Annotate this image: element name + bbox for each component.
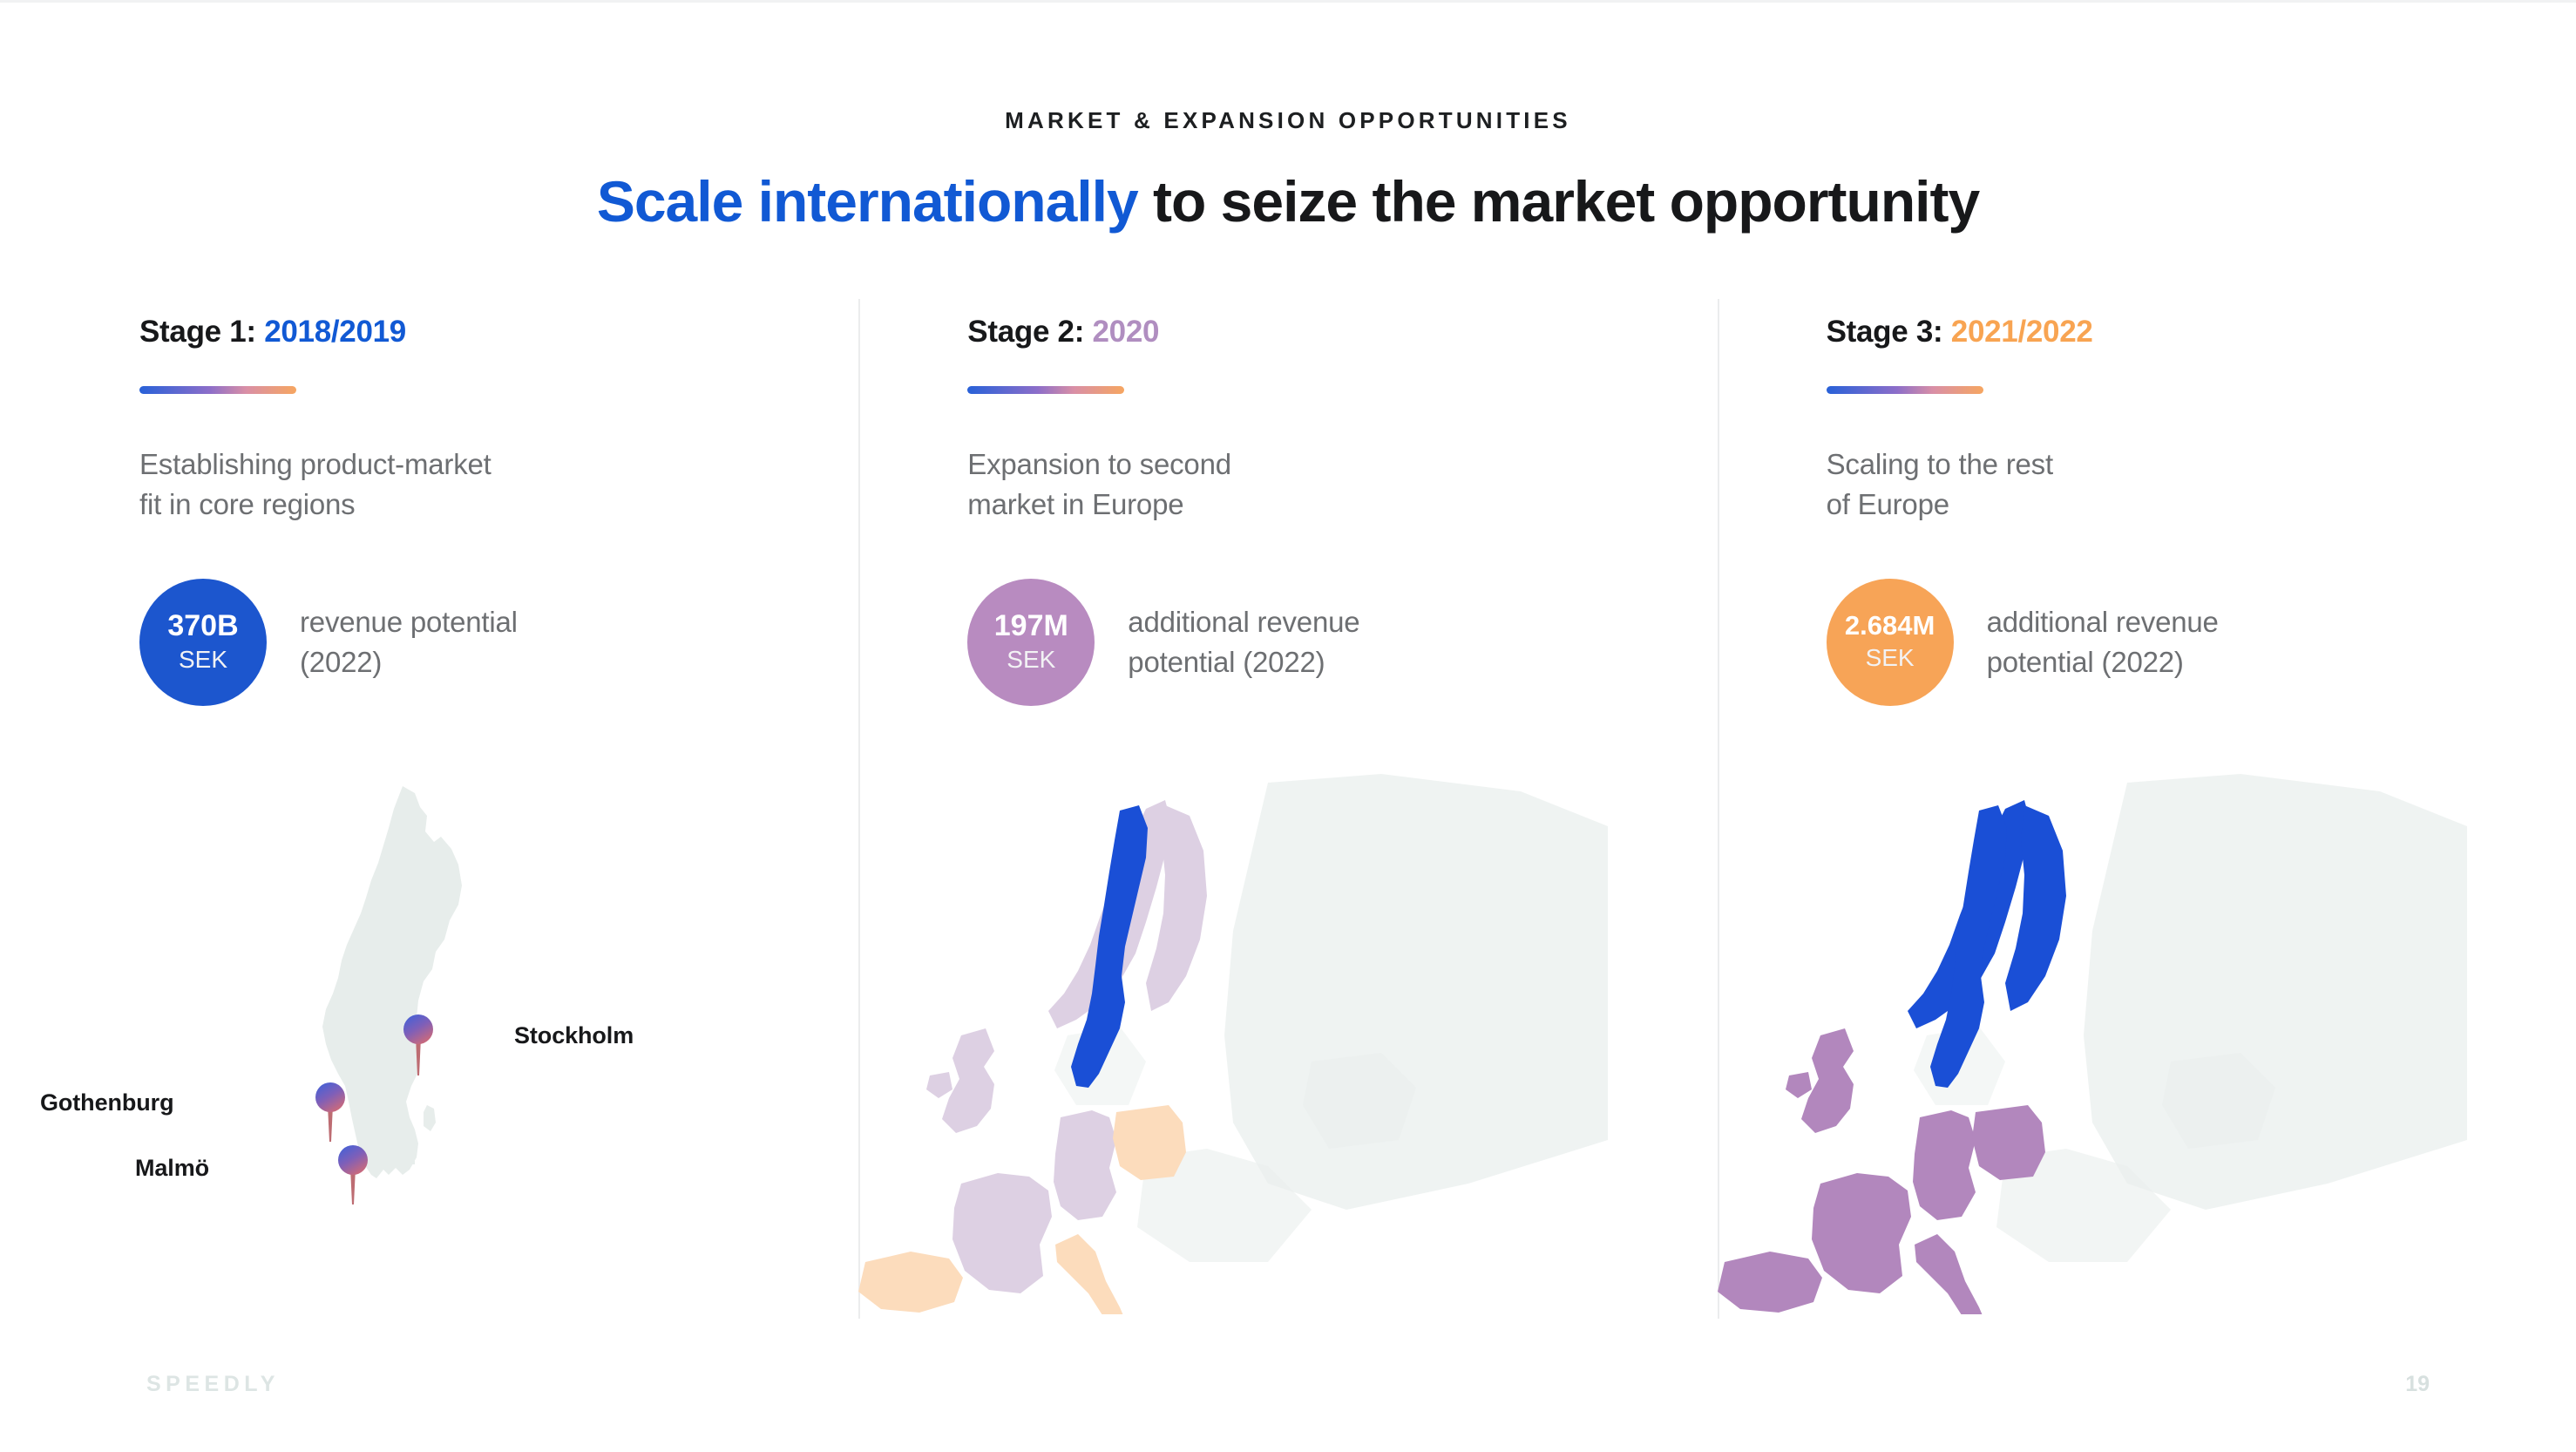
slide-root: MARKET & EXPANSION OPPORTUNITIES Scale i…	[0, 0, 2576, 1452]
stage-3-metric-bubble: 2.684M SEK	[1827, 579, 1954, 706]
germany-shape	[1913, 1110, 1976, 1220]
stage-column-2: Stage 2: 2020 Expansion to secondmarket …	[858, 299, 1717, 1319]
stage-2-map-area	[858, 774, 1717, 1314]
europe-map-stage3	[1718, 774, 2467, 1314]
slide-eyebrow: MARKET & EXPANSION OPPORTUNITIES	[0, 107, 2576, 134]
europe-map-stage2	[858, 774, 1608, 1314]
stage-1-map-area: Stockholm Gothenburg Malmö	[0, 774, 858, 1314]
stage-1-year: 2018/2019	[264, 315, 406, 349]
stage-3-metric-value: 2.684M	[1845, 612, 1935, 641]
page-title-accent: Scale internationally	[597, 169, 1138, 234]
france-shape	[952, 1173, 1052, 1293]
stage-1-metric-value: 370B	[167, 611, 238, 642]
stage-column-1: Stage 1: 2018/2019 Establishing product-…	[0, 299, 858, 1319]
stage-1-metric-currency: SEK	[179, 646, 227, 674]
page-title-rest: to seize the market opportunity	[1138, 169, 1979, 234]
stage-1-title: Stage 1: 2018/2019	[139, 315, 858, 349]
stage-columns: Stage 1: 2018/2019 Establishing product-…	[0, 299, 2576, 1319]
city-label-malmo: Malmö	[135, 1155, 209, 1182]
page-title: Scale internationally to seize the marke…	[0, 168, 2576, 234]
stage-2-metric-bubble: 197M SEK	[967, 579, 1095, 706]
page-number: 19	[2405, 1372, 2430, 1397]
stage-2-metric-currency: SEK	[1007, 646, 1055, 674]
stage-1-accent-bar	[139, 386, 296, 394]
pin-gothenburg	[315, 1082, 345, 1142]
stage-3-label: Stage 3:	[1827, 315, 1943, 349]
stage-2-accent-bar	[967, 386, 1124, 394]
europe-map-stage2-svg	[858, 774, 1608, 1314]
italy-shape	[1915, 1234, 1990, 1314]
spain-shape	[858, 1252, 963, 1313]
stage-2-metric: 197M SEK additional revenuepotential (20…	[967, 579, 1717, 706]
stage-1-metric-label: revenue potential(2022)	[300, 602, 518, 682]
city-label-gothenburg: Gothenburg	[40, 1089, 173, 1116]
stage-column-3: Stage 3: 2021/2022 Scaling to the restof…	[1718, 299, 2576, 1319]
city-label-stockholm: Stockholm	[514, 1022, 634, 1049]
uk-shape	[926, 1028, 994, 1133]
stage-2-year: 2020	[1093, 315, 1160, 349]
brand-logo: SPEEDLY	[146, 1372, 280, 1397]
sweden-map	[288, 781, 514, 1304]
sweden-map-svg	[288, 781, 514, 1304]
stage-3-metric: 2.684M SEK additional revenuepotential (…	[1827, 579, 2576, 706]
france-shape	[1812, 1173, 1911, 1293]
stage-3-accent-bar	[1827, 386, 1983, 394]
stage-3-year: 2021/2022	[1951, 315, 2093, 349]
stage-3-metric-currency: SEK	[1866, 644, 1915, 672]
italy-shape	[1055, 1234, 1130, 1314]
stage-3-metric-label: additional revenuepotential (2022)	[1987, 602, 2219, 682]
sweden-shape	[322, 786, 462, 1178]
spain-shape	[1718, 1252, 1822, 1313]
poland-shape	[1113, 1105, 1186, 1180]
stage-1-label: Stage 1:	[139, 315, 256, 349]
germany-shape	[1054, 1110, 1116, 1220]
stage-2-metric-label: additional revenuepotential (2022)	[1128, 602, 1359, 682]
stage-2-label: Stage 2:	[967, 315, 1084, 349]
poland-shape	[1972, 1105, 2045, 1180]
stage-3-title: Stage 3: 2021/2022	[1827, 315, 2576, 349]
europe-map-stage3-svg	[1718, 774, 2467, 1314]
stage-2-metric-value: 197M	[994, 611, 1068, 642]
stage-2-title: Stage 2: 2020	[967, 315, 1717, 349]
stage-1-description: Establishing product-marketfit in core r…	[139, 444, 858, 525]
gotland-shape	[424, 1105, 436, 1131]
stage-1-metric: 370B SEK revenue potential(2022)	[139, 579, 858, 706]
pin-malmo	[338, 1145, 368, 1204]
stage-2-description: Expansion to secondmarket in Europe	[967, 444, 1717, 525]
stage-3-map-area	[1718, 774, 2576, 1314]
uk-shape	[1786, 1028, 1854, 1133]
stage-3-description: Scaling to the restof Europe	[1827, 444, 2576, 525]
stage-1-metric-bubble: 370B SEK	[139, 579, 267, 706]
